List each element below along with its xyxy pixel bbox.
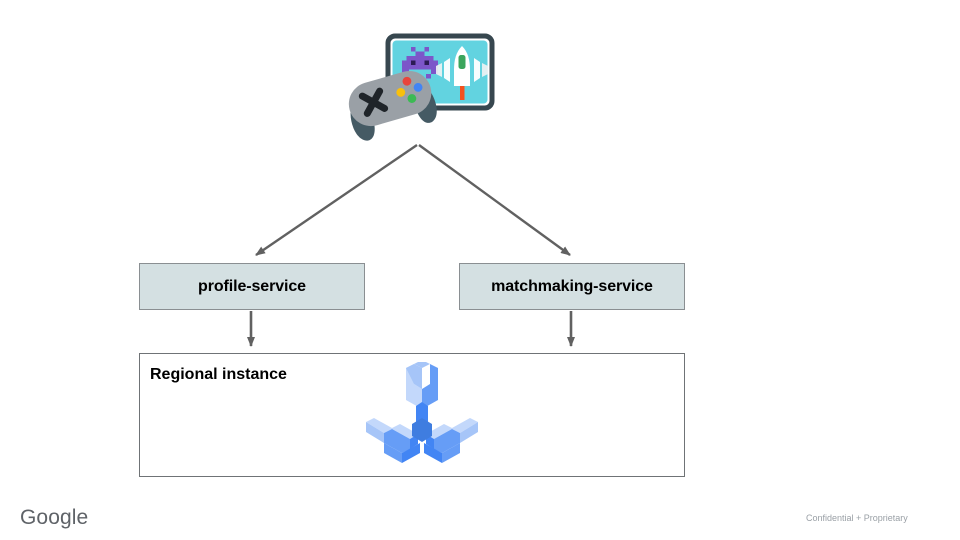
gke-prong-top [406,362,438,409]
node-profile-service-label: profile-service [198,278,306,296]
container-regional-instance[interactable]: Regional instance [139,353,685,477]
edge-client-to-profile [256,145,417,255]
node-matchmaking-service-label: matchmaking-service [491,278,653,296]
edge-client-to-matchmaking [419,145,570,255]
slide-canvas: profile-service matchmaking-service Regi… [0,0,960,540]
confidentiality-note: Confidential + Proprietary [806,513,908,523]
gke-cluster-icon [362,362,482,470]
google-logo: Google [20,506,88,530]
rocket-flame [460,86,465,100]
node-matchmaking-service[interactable]: matchmaking-service [459,263,685,310]
video-game-icon [340,28,500,148]
gke-prong-left [366,418,420,463]
gke-prong-right [424,418,478,463]
container-regional-instance-label: Regional instance [150,366,287,384]
node-profile-service[interactable]: profile-service [139,263,365,310]
